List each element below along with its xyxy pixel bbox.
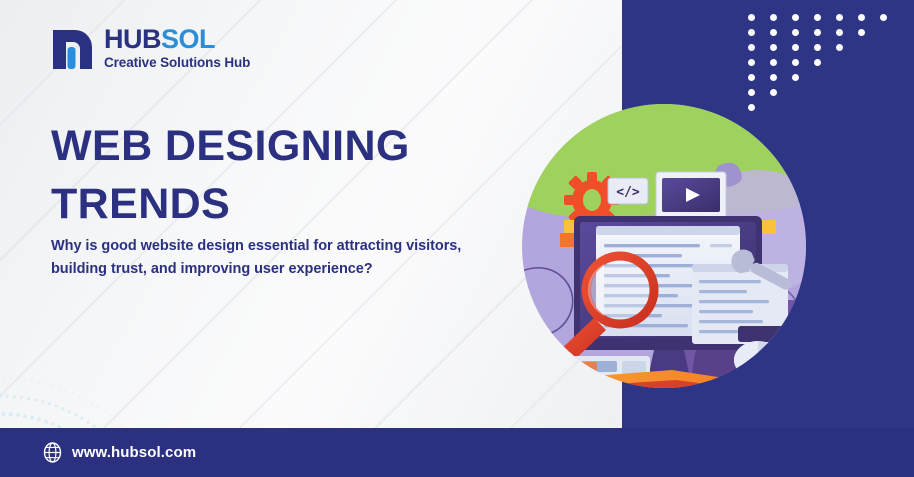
grid-dot bbox=[880, 14, 887, 21]
logo-wordmark: HUBSOL Creative Solutions Hub bbox=[104, 26, 250, 70]
grid-dot bbox=[748, 59, 755, 66]
grid-dot bbox=[748, 29, 755, 36]
logo-title: HUBSOL bbox=[104, 26, 250, 53]
svg-text:</>: </> bbox=[616, 185, 640, 200]
website-link[interactable]: www.hubsol.com bbox=[42, 442, 196, 463]
grid-dot bbox=[770, 59, 777, 66]
grid-dot bbox=[792, 14, 799, 21]
grid-dot bbox=[792, 44, 799, 51]
headline-line-2: TRENDS bbox=[51, 176, 410, 234]
subheading: Why is good website design essential for… bbox=[51, 235, 481, 281]
grid-dot bbox=[836, 44, 843, 51]
grid-dot bbox=[814, 14, 821, 21]
grid-dot bbox=[770, 44, 777, 51]
globe-icon bbox=[42, 442, 63, 463]
grid-dot bbox=[748, 44, 755, 51]
grid-dot bbox=[792, 74, 799, 81]
logo-word-sol: SOL bbox=[161, 24, 215, 54]
grid-dot bbox=[770, 14, 777, 21]
grid-dot bbox=[770, 29, 777, 36]
brand-logo[interactable]: HUBSOL Creative Solutions Hub bbox=[50, 24, 250, 72]
grid-dot bbox=[836, 14, 843, 21]
grid-dot bbox=[792, 59, 799, 66]
logo-tagline: Creative Solutions Hub bbox=[104, 56, 250, 70]
grid-dot bbox=[858, 14, 865, 21]
logo-word-hub: HUB bbox=[104, 24, 161, 54]
marketing-banner: HUBSOL Creative Solutions Hub WEB DESIGN… bbox=[0, 0, 914, 477]
grid-dot bbox=[770, 74, 777, 81]
grid-dot bbox=[748, 74, 755, 81]
grid-dot bbox=[748, 14, 755, 21]
page-title: WEB DESIGNING TRENDS bbox=[51, 118, 410, 233]
headline-line-1: WEB DESIGNING bbox=[51, 118, 410, 176]
grid-dot bbox=[748, 89, 755, 96]
grid-dot bbox=[814, 44, 821, 51]
hubsol-h-monogram-icon bbox=[50, 24, 96, 72]
site-url-text: www.hubsol.com bbox=[72, 444, 196, 461]
grid-dot bbox=[814, 59, 821, 66]
grid-dot bbox=[792, 29, 799, 36]
grid-dot bbox=[836, 29, 843, 36]
grid-dot bbox=[770, 89, 777, 96]
footer-bar: www.hubsol.com bbox=[0, 428, 914, 477]
web-design-workspace-illustration: </> bbox=[522, 104, 806, 388]
grid-dot bbox=[858, 29, 865, 36]
grid-dot bbox=[814, 29, 821, 36]
